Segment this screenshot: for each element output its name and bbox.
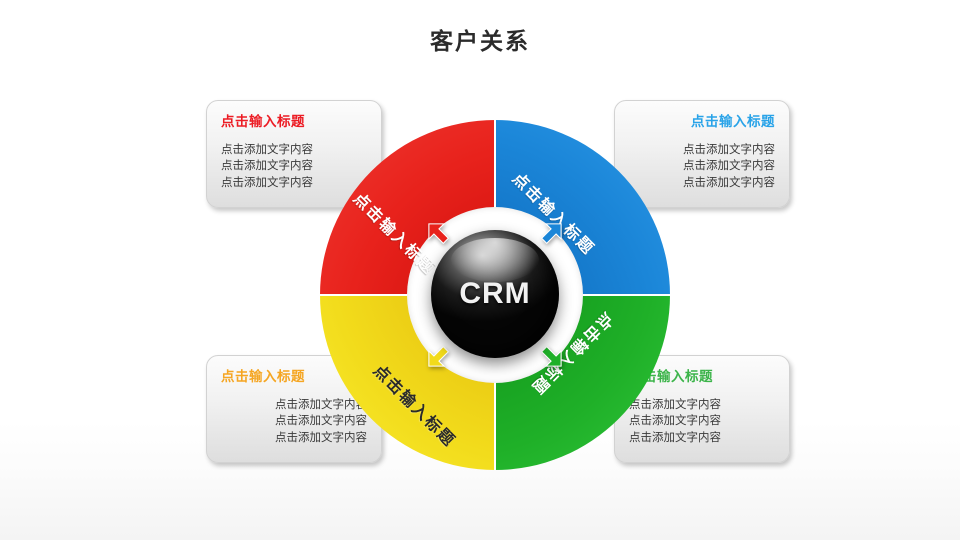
crm-sphere[interactable]: CRM bbox=[431, 230, 559, 358]
wheel-reflection bbox=[320, 471, 670, 540]
slide-canvas: 客户关系 点击输入标题 点击添加文字内容 点击添加文字内容 点击添加文字内容 点… bbox=[0, 0, 960, 540]
crm-wheel: 点击输入标题 点击输入标题 点击输入标题 点击输入标题 CRM bbox=[320, 120, 670, 470]
page-title: 客户关系 bbox=[0, 22, 960, 56]
crm-label: CRM bbox=[431, 230, 559, 358]
